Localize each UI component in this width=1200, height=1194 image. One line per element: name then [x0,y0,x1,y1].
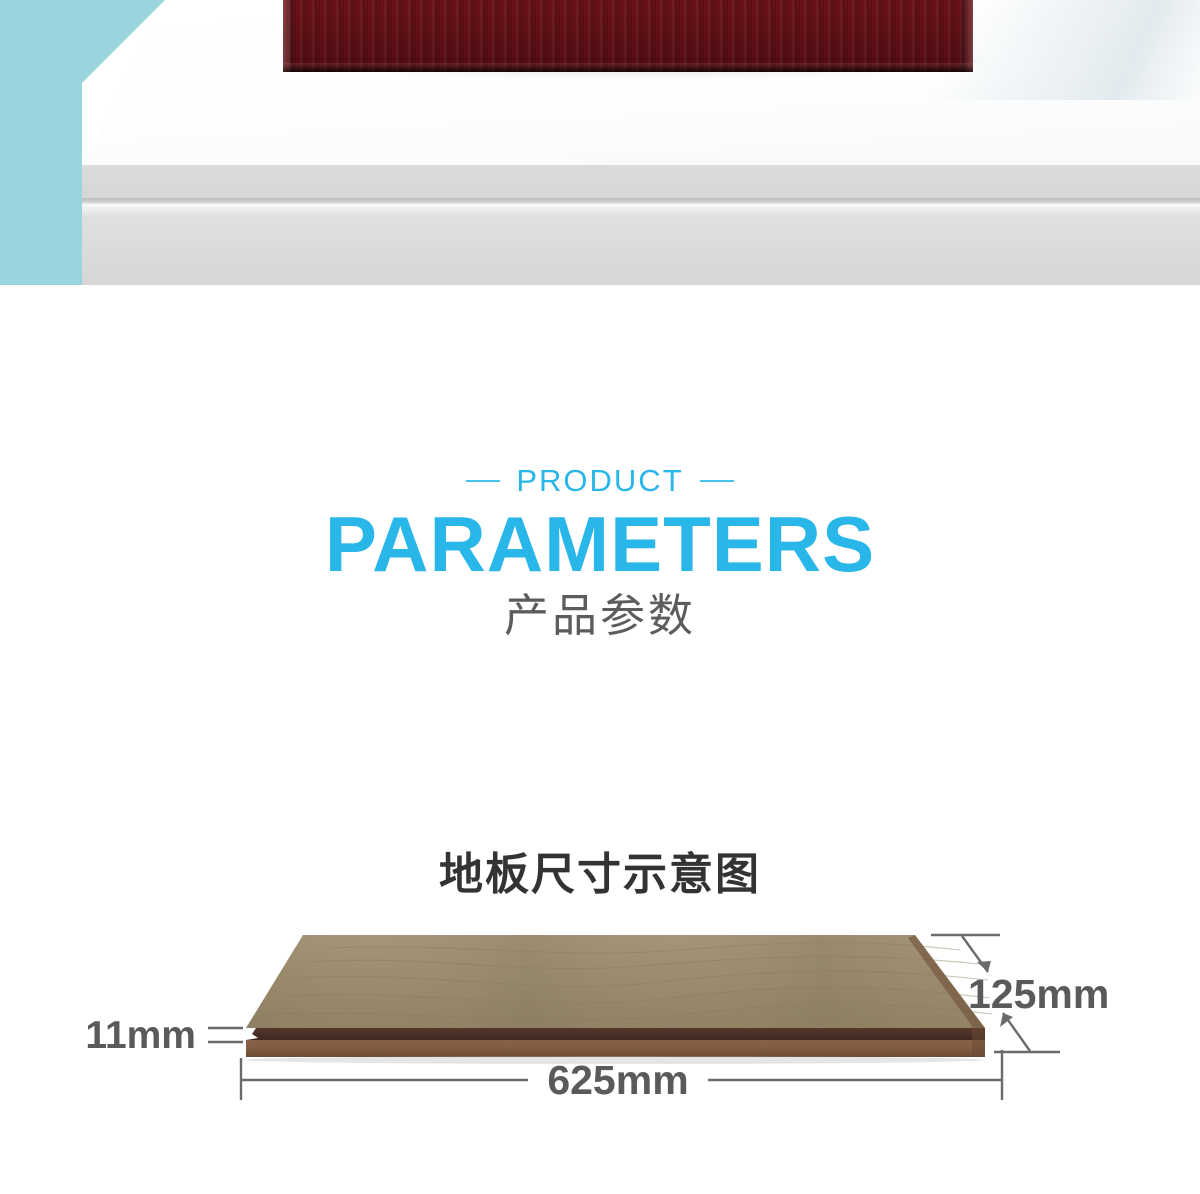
product-photo-crop [0,0,1200,285]
page-title: PARAMETERS [0,504,1200,586]
page-subtitle: 产品参数 [0,590,1200,642]
section-title-block: PRODUCT PARAMETERS 产品参数 [0,465,1200,642]
plank-edge-light [246,1040,985,1057]
plank-top-grain [246,935,985,1028]
plaque-bevel-left [283,0,293,72]
product-parameters-page: PRODUCT PARAMETERS 产品参数 地板尺寸示意图 [0,0,1200,1194]
plaque-bevel-bottom [283,63,973,72]
diagram-heading: 地板尺寸示意图 [0,838,1200,902]
eyebrow-row: PRODUCT [0,465,1200,496]
length-label: 625mm [547,1057,688,1103]
table-front-face-lower [82,206,1200,285]
plank-edge-dark [246,1028,985,1040]
plank-3d-body [245,935,992,1064]
plank-dimension-svg: 11mm 625mm 125mm [0,900,1200,1130]
table-front-face-upper [82,165,1200,200]
wooden-plaque [283,0,973,72]
dash-right-icon [700,480,734,482]
thickness-dimension [208,1028,243,1042]
floor-plank-diagram: 11mm 625mm 125mm [0,900,1200,1130]
plaque-bevel-right [961,0,973,72]
dash-left-icon [466,480,500,482]
eyebrow-label: PRODUCT [516,465,683,496]
plaque-wood-frame [283,0,973,72]
width-label: 125mm [968,971,1109,1017]
thickness-label: 11mm [85,1014,196,1057]
